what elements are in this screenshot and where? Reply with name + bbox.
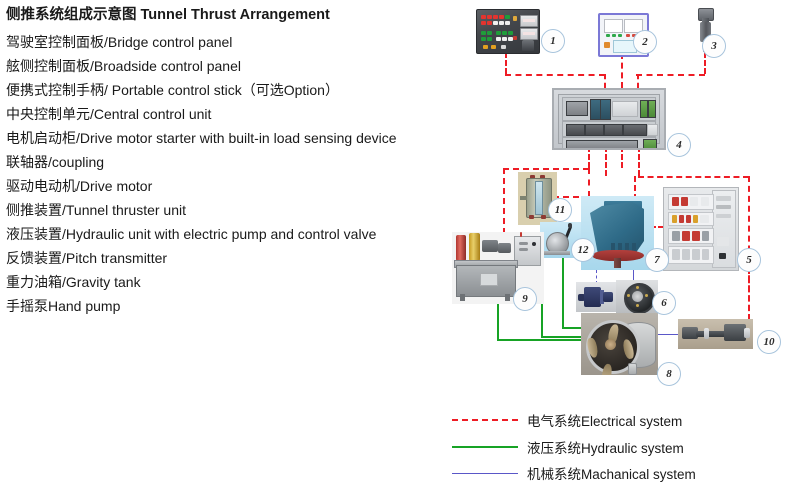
- wire-electrical-tank-stub-v: [588, 168, 590, 197]
- panel-indicator: [626, 34, 630, 37]
- badge-11: 11: [548, 198, 572, 222]
- badge-6: 6: [652, 291, 676, 315]
- badge-5: 5: [737, 248, 761, 272]
- terminal-block: [566, 140, 638, 150]
- cabinet-row: [668, 228, 714, 244]
- wire-hydraulic-hpu-right: [497, 339, 582, 341]
- panel-button: [487, 31, 492, 35]
- panel-button: [505, 15, 510, 19]
- badge-2: 2: [633, 30, 657, 54]
- drive-motor-starter[interactable]: [663, 187, 739, 271]
- panel-indicator: [618, 34, 622, 37]
- tank-valve: [541, 215, 546, 219]
- terminal-strip: [640, 100, 648, 118]
- wire-electrical-stick-left: [636, 74, 705, 76]
- legend-mechanical-label: 机械系统Machanical system: [527, 463, 696, 483]
- cabinet-door[interactable]: [712, 190, 736, 268]
- panel-button: [491, 45, 496, 49]
- hpu-antenna: [520, 232, 522, 237]
- breaker: [682, 249, 690, 260]
- list-item: 侧推装置/Tunnel thruster unit: [6, 198, 456, 222]
- wire-electrical-ccu-out-d: [638, 146, 640, 176]
- breaker: [716, 196, 731, 201]
- transmitter-body: [584, 287, 601, 307]
- filter-cylinder: [469, 233, 480, 261]
- breaker: [672, 215, 677, 223]
- panel-button: [499, 21, 504, 25]
- list-item: 手摇泵Hand pump: [6, 294, 456, 318]
- wire-hydraulic-pump-right: [562, 327, 582, 329]
- contactor: [690, 197, 698, 206]
- tank-valve: [529, 215, 534, 219]
- list-item: 反馈装置/Pitch transmitter: [6, 246, 456, 270]
- pump-base: [544, 251, 570, 255]
- breaker: [700, 215, 709, 223]
- badge-8: 8: [657, 362, 681, 386]
- contactor: [672, 197, 679, 206]
- panel-joystick[interactable]: [522, 40, 534, 51]
- panel-button: [499, 15, 504, 19]
- panel-button: [481, 15, 486, 19]
- panel-indicator: [513, 16, 517, 21]
- panel-indicator: [612, 34, 616, 37]
- cabinet-row: [668, 246, 714, 264]
- propeller-blade: [622, 338, 635, 359]
- breaker: [686, 215, 691, 223]
- cabinet-row: [668, 194, 714, 210]
- panel-button: [505, 21, 510, 25]
- legend-electrical-line: [452, 419, 518, 421]
- legend-hydraulic: 液压系统Hydraulic system: [452, 437, 684, 457]
- panel-indicator: [513, 36, 517, 40]
- wire-electrical-panel2-down: [621, 53, 623, 88]
- coupling[interactable]: [616, 280, 658, 313]
- badge-7: 7: [645, 248, 669, 272]
- bridge-control-panel[interactable]: [476, 9, 540, 54]
- breaker: [679, 215, 684, 223]
- box-indicator: [519, 242, 528, 245]
- wire-electrical-starter-to-motor: [748, 268, 750, 320]
- terminal-strip: [648, 100, 656, 118]
- wire-electrical-stick-join: [637, 74, 639, 88]
- list-item: 中央控制单元/Central control unit: [6, 102, 456, 126]
- cabinet-module: [566, 124, 585, 136]
- badge-1: 1: [541, 29, 565, 53]
- unit-shaft: [614, 258, 621, 268]
- coupling-bolt: [636, 304, 639, 307]
- contactor: [672, 231, 680, 241]
- central-control-unit[interactable]: [552, 88, 666, 150]
- panel-indicator: [606, 34, 610, 37]
- panel-button: [496, 37, 501, 41]
- tunnel-thruster-unit[interactable]: [581, 196, 654, 270]
- legend-electrical-label: 电气系统Electrical system: [527, 410, 682, 430]
- panel-button: [481, 21, 486, 25]
- panel-button: [481, 31, 486, 35]
- box-indicator: [532, 242, 536, 246]
- pump-knob: [568, 223, 572, 228]
- badge-10: 10: [757, 330, 781, 354]
- pitch-transmitter[interactable]: [576, 282, 616, 312]
- cabinet-shelf: [562, 121, 656, 137]
- list-item: 联轴器/coupling: [6, 150, 456, 174]
- wire-electrical-panel1-join: [604, 74, 606, 88]
- drive-motor[interactable]: [678, 319, 753, 349]
- cabinet-module: [647, 124, 658, 136]
- list-item: 舷侧控制面板/Broadside control panel: [6, 54, 456, 78]
- legend-hydraulic-line: [452, 446, 518, 448]
- legend-mechanical: 机械系统Machanical system: [452, 463, 696, 483]
- page-title: 侧推系统组成示意图 Tunnel Thrust Arrangement: [6, 6, 456, 25]
- wire-hydraulic-pump-down: [562, 258, 564, 328]
- coupling-bolt: [636, 286, 639, 289]
- breaker: [693, 215, 698, 223]
- contactor: [701, 197, 709, 206]
- panel-button: [493, 15, 498, 19]
- propeller-blade: [586, 337, 598, 358]
- contactor: [682, 231, 690, 241]
- panel-button: [487, 21, 492, 25]
- panel-button: [483, 45, 488, 49]
- cabinet-shelf: [562, 137, 656, 150]
- list-item: 便携式控制手柄/ Portable control stick（可选Option…: [6, 78, 456, 102]
- panel-display: [604, 19, 623, 33]
- pump-motor: [482, 240, 498, 252]
- legend-hydraulic-label: 液压系统Hydraulic system: [527, 437, 684, 457]
- propeller-blade: [601, 363, 613, 375]
- thruster-foot: [628, 363, 637, 375]
- cabinet-row: [668, 212, 714, 226]
- wire-electrical-panel1-down: [505, 52, 507, 74]
- breaker: [716, 205, 731, 209]
- wire-hydraulic-tank-right: [541, 336, 581, 338]
- control-box[interactable]: [514, 236, 541, 266]
- sight-glass: [535, 181, 543, 215]
- filter-cylinder: [456, 235, 466, 261]
- diagram-canvas: 侧推系统组成示意图 Tunnel Thrust Arrangement 驾驶室控…: [0, 0, 788, 490]
- box-indicator: [519, 248, 528, 251]
- terminal-strip: [643, 139, 657, 150]
- propeller-hub: [605, 339, 616, 350]
- cabinet-module: [604, 124, 623, 136]
- hpu-leg: [505, 294, 510, 301]
- breaker: [702, 249, 709, 260]
- tank-pipe: [520, 196, 527, 200]
- list-item: 电机启动柜/Drive motor starter with built-in …: [6, 126, 456, 150]
- motor-endcap: [744, 328, 750, 338]
- wire-electrical-panel1-right: [505, 74, 605, 76]
- pump-motor: [498, 243, 511, 253]
- panel-button: [502, 37, 507, 41]
- contactor: [692, 231, 700, 241]
- wire-electrical-to-tank-h: [503, 168, 589, 170]
- contactor: [681, 197, 688, 206]
- cabinet-interior: [558, 94, 660, 144]
- panel-indicator: [604, 42, 610, 48]
- cabinet-module: [585, 124, 604, 136]
- panel-display: [520, 15, 538, 27]
- cabinet-module: [612, 101, 638, 117]
- breaker: [716, 214, 731, 218]
- contactor: [702, 231, 709, 241]
- transmitter-end: [603, 292, 613, 302]
- breaker: [692, 249, 700, 260]
- motor-body: [724, 324, 746, 341]
- cabinet-module: [566, 101, 588, 116]
- panel-button: [487, 37, 492, 41]
- badge-4: 4: [667, 133, 691, 157]
- component-list: 侧推系统组成示意图 Tunnel Thrust Arrangement 驾驶室控…: [6, 6, 456, 318]
- badge-3: 3: [702, 34, 726, 58]
- legend-mechanical-line: [452, 473, 518, 474]
- panel-button: [487, 15, 492, 19]
- panel-button: [502, 31, 507, 35]
- badge-12: 12: [571, 238, 595, 262]
- list-item: 驾驶室控制面板/Bridge control panel: [6, 30, 456, 54]
- panel-button: [508, 31, 513, 35]
- list-item: 液压装置/Hydraulic unit with electric pump a…: [6, 222, 456, 246]
- breaker: [719, 253, 726, 259]
- panel-button: [481, 37, 486, 41]
- plc-module: [600, 99, 611, 120]
- panel-button: [496, 31, 501, 35]
- cabinet-shelf: [562, 97, 656, 121]
- wire-electrical-ccu-out-b: [605, 146, 607, 176]
- panel-button: [501, 45, 506, 49]
- motor-flange: [704, 328, 709, 339]
- tunnel-thruster[interactable]: [581, 313, 658, 375]
- cabinet-module: [623, 124, 647, 136]
- hpu-nameplate: [480, 273, 498, 286]
- panel-button: [493, 21, 498, 25]
- hpu-leg: [460, 294, 465, 301]
- badge-9: 9: [513, 287, 537, 311]
- coupling-bolt: [627, 294, 630, 297]
- panel-display: [520, 28, 538, 40]
- wire-electrical-to-starter-h: [638, 176, 749, 178]
- legend-electrical: 电气系统Electrical system: [452, 410, 682, 430]
- breaker: [672, 249, 680, 260]
- list-item: 重力油箱/Gravity tank: [6, 270, 456, 294]
- coupling-hub: [632, 291, 643, 302]
- list-item: 驱动电动机/Drive motor: [6, 174, 456, 198]
- breaker: [717, 237, 729, 246]
- coupling-bolt: [645, 294, 648, 297]
